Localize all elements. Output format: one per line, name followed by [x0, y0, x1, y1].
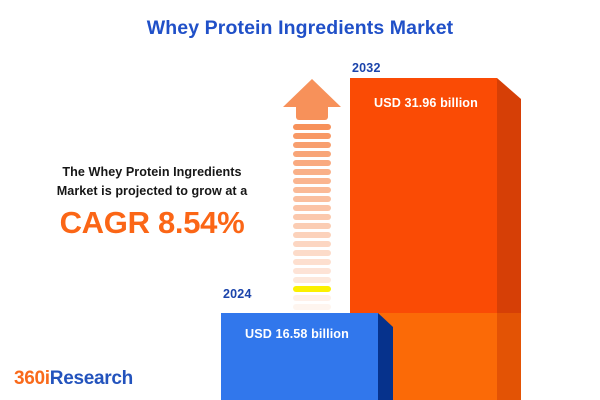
arrow-stripe — [293, 304, 331, 310]
arrow-stripe — [293, 205, 331, 211]
cagr-value: CAGR 8.54% — [22, 206, 282, 240]
arrow-stripe — [293, 178, 331, 184]
page-title: Whey Protein Ingredients Market — [0, 17, 600, 40]
arrow-stripe — [293, 286, 331, 292]
arrow-stripe — [293, 214, 331, 220]
value-label-2032: USD 31.96 billion — [374, 96, 478, 110]
bar-2032-side-lower — [497, 313, 521, 400]
bar-2024-side — [378, 313, 393, 400]
arrow-stripe — [293, 196, 331, 202]
arrow-stripe — [293, 169, 331, 175]
arrow-stripe — [293, 250, 331, 256]
up-arrow-icon — [283, 79, 341, 294]
arrow-stripe — [293, 160, 331, 166]
arrow-stripe — [293, 223, 331, 229]
cagr-callout: The Whey Protein Ingredients Market is p… — [22, 163, 282, 240]
arrow-stripe — [293, 124, 331, 130]
arrow-head — [283, 79, 341, 107]
arrow-stripe — [293, 151, 331, 157]
arrow-stripe — [293, 259, 331, 265]
arrow-stripe — [293, 232, 331, 238]
arrow-stripe — [293, 133, 331, 139]
year-label-2024: 2024 — [223, 287, 252, 301]
arrow-stripes — [293, 124, 331, 340]
logo-research: Research — [50, 368, 133, 389]
brand-logo: 360iResearch — [14, 368, 133, 390]
arrow-stripe — [293, 142, 331, 148]
arrow-stripe — [293, 277, 331, 283]
cagr-lead-line-2: Market is projected to grow at a — [57, 184, 248, 198]
arrow-stripe — [293, 241, 331, 247]
arrow-stripe — [293, 187, 331, 193]
year-label-2032: 2032 — [352, 61, 381, 75]
value-label-2024: USD 16.58 billion — [245, 327, 349, 341]
arrow-neck — [296, 106, 328, 120]
infographic-canvas: Whey Protein Ingredients Market The Whey… — [0, 0, 600, 400]
cagr-lead-text: The Whey Protein Ingredients Market is p… — [22, 163, 282, 200]
arrow-stripe — [293, 295, 331, 301]
logo-360i: 360i — [14, 368, 50, 389]
arrow-stripe — [293, 268, 331, 274]
cagr-lead-line-1: The Whey Protein Ingredients — [62, 165, 241, 179]
